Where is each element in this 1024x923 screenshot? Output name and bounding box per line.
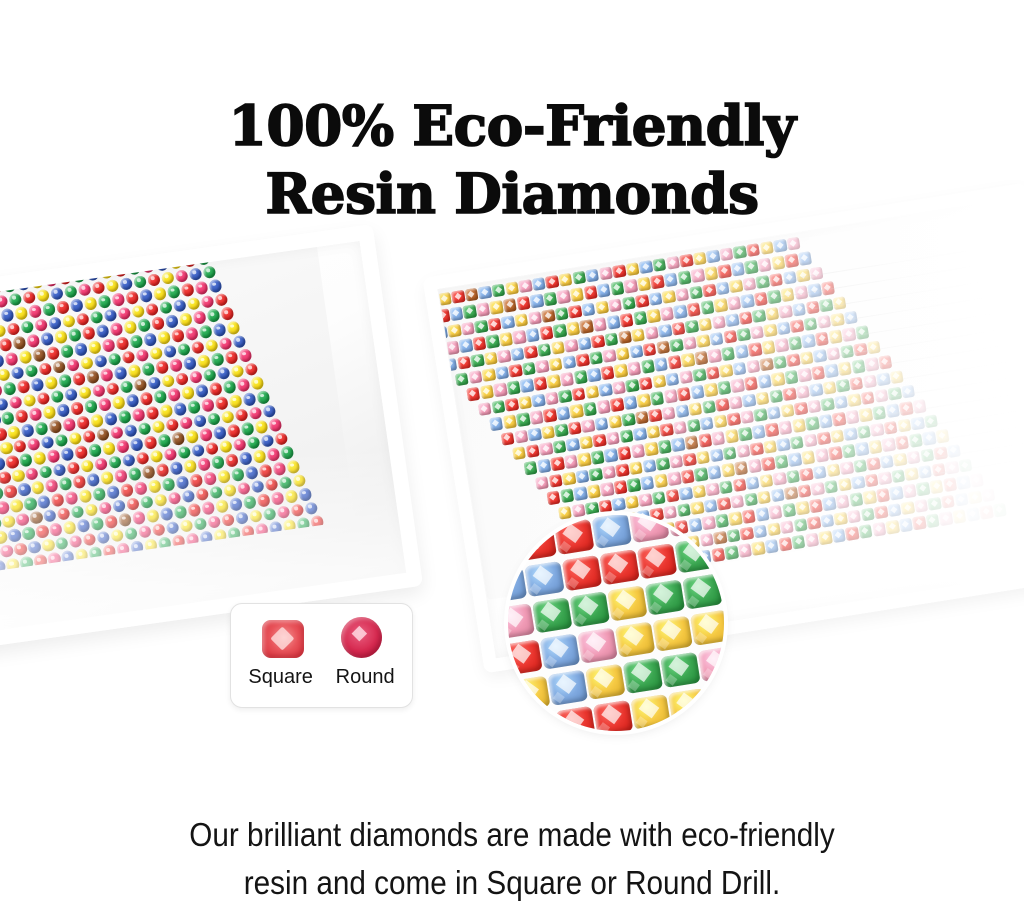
zoom-square-drill (508, 603, 535, 639)
zoom-square-drill (675, 537, 715, 573)
zoom-square-drill (518, 712, 558, 731)
zoom-square-drill (690, 609, 724, 645)
square-gem-icon (262, 620, 304, 658)
legend-item-square[interactable] (262, 620, 304, 658)
caption-line-2: resin and come in Square or Round Drill. (51, 859, 973, 907)
product-banner: 100% Eco-Friendly Resin Diamonds (0, 0, 1024, 923)
zoom-square-drill (585, 663, 625, 699)
headline-line-1: 100% Eco-Friendly (229, 93, 796, 158)
zoom-square-drill (645, 579, 685, 615)
zoom-square-drill (667, 515, 707, 537)
zoom-square-drill (660, 652, 700, 688)
zoom-square-drill (578, 627, 618, 663)
zoom-square-drill (554, 519, 594, 555)
zoom-square-drill (706, 682, 724, 718)
zoom-square-drill (556, 706, 596, 731)
round-drill-tray (0, 224, 423, 651)
zoom-square-drill (653, 615, 693, 651)
zoom-square-drill (508, 515, 512, 530)
zoom-square-drill (698, 646, 724, 682)
zoom-square-drill (629, 515, 669, 543)
zoom-square-drill (517, 524, 557, 560)
zoom-square-drill (532, 597, 572, 633)
zoom-square-drill (570, 591, 610, 627)
zoom-square-drill (607, 585, 647, 621)
legend-label-square: Square (248, 666, 313, 689)
round-gem-icon (341, 617, 382, 658)
zoom-square-drill (713, 718, 724, 731)
legend-icons-row (231, 604, 412, 658)
legend-label-round: Round (336, 666, 395, 689)
drill-shape-legend[interactable]: Square Round (230, 603, 413, 708)
zoom-square-drill (508, 639, 543, 675)
zoom-square-drill (510, 675, 550, 711)
detail-zoom-circle (508, 515, 724, 731)
zoom-square-drill (682, 573, 722, 609)
zoom-square-drill (593, 700, 633, 731)
detail-zoom-content (508, 515, 724, 731)
zoom-square-drill (540, 633, 580, 669)
legend-item-round[interactable] (341, 617, 382, 658)
zoom-square-drill (631, 694, 671, 730)
caption: Our brilliant diamonds are made with eco… (51, 811, 973, 907)
legend-labels-row: Square Round (231, 658, 412, 689)
zoom-square-drill (546, 515, 586, 519)
zoom-square-drill (548, 669, 588, 705)
zoom-square-drill (623, 658, 663, 694)
zoom-square-drill (676, 724, 716, 731)
zoom-square-drill (615, 621, 655, 657)
zoom-square-drill (637, 543, 677, 579)
tray-rim (0, 224, 423, 651)
caption-line-1: Our brilliant diamonds are made with eco… (51, 811, 973, 859)
zoom-square-drill (562, 555, 602, 591)
zoom-square-drill (509, 515, 549, 524)
zoom-square-drill (524, 561, 564, 597)
zoom-square-drill (600, 549, 640, 585)
zoom-square-drill (592, 515, 632, 549)
zoom-square-drill (638, 730, 678, 731)
zoom-square-drill (704, 515, 724, 531)
zoom-square-drill (668, 688, 708, 724)
